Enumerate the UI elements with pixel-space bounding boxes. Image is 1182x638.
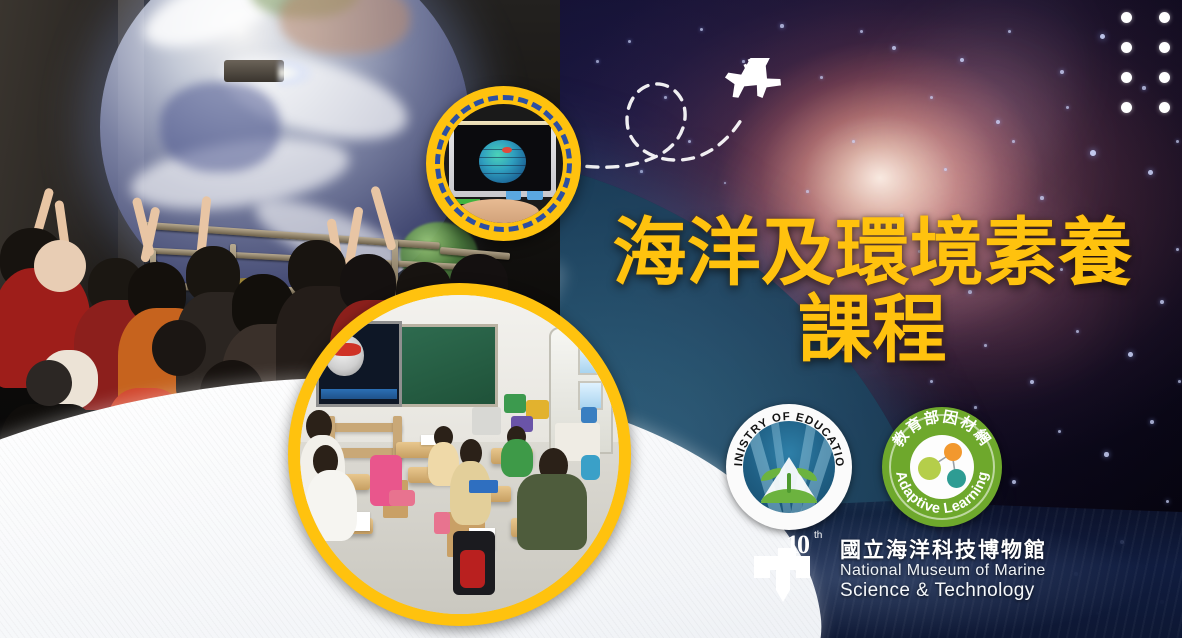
grid-dot [1159, 42, 1170, 53]
airplane-trail-svg [565, 58, 795, 208]
nmmst-anniversary-suffix: th [814, 530, 822, 541]
nmmst-logo: 10 th 國立海洋科技博物館 National Museum of Marin… [752, 534, 1047, 606]
al-node-graph [910, 435, 974, 499]
dot-grid-decoration [1121, 12, 1177, 122]
grid-dot [1121, 102, 1132, 113]
poster-root: 海洋及環境素養 課程 MINISTRY OF EDUCATION 教育部 [0, 0, 1182, 638]
nmmst-wordmark: 國立海洋科技博物館 National Museum of Marine Scie… [840, 538, 1047, 603]
inset-tablet-photo[interactable] [426, 86, 581, 241]
nmmst-name-en-1: National Museum of Marine [840, 562, 1047, 581]
adaptive-learning-logo: 教育部因材網 Adaptive Learning [882, 407, 1002, 527]
airplane-decoration [565, 58, 795, 208]
grid-dot [1159, 72, 1170, 83]
ministry-of-education-logo: MINISTRY OF EDUCATION 教育部 [726, 404, 852, 530]
grid-dot [1159, 12, 1170, 23]
nmmst-name-en-2: Science & Technology [840, 580, 1047, 602]
grid-dot [1121, 72, 1132, 83]
title-line-2: 課程 [560, 292, 1182, 369]
nmmst-anniversary-number: 10 [786, 530, 808, 560]
inset-tablet-image [444, 104, 563, 223]
nmmst-name-zh: 國立海洋科技博物館 [840, 538, 1047, 562]
grid-dot [1159, 102, 1170, 113]
airplane-icon [717, 58, 793, 109]
sponsor-logo-row: MINISTRY OF EDUCATION 教育部 [726, 404, 1002, 530]
title-line-1: 海洋及環境素養 [560, 215, 1182, 292]
poster-title: 海洋及環境素養 課程 [560, 215, 1182, 369]
grid-dot [1121, 42, 1132, 53]
nmmst-mark: 10 th [752, 534, 828, 606]
grid-dot [1121, 12, 1132, 23]
moe-emblem [743, 421, 835, 513]
